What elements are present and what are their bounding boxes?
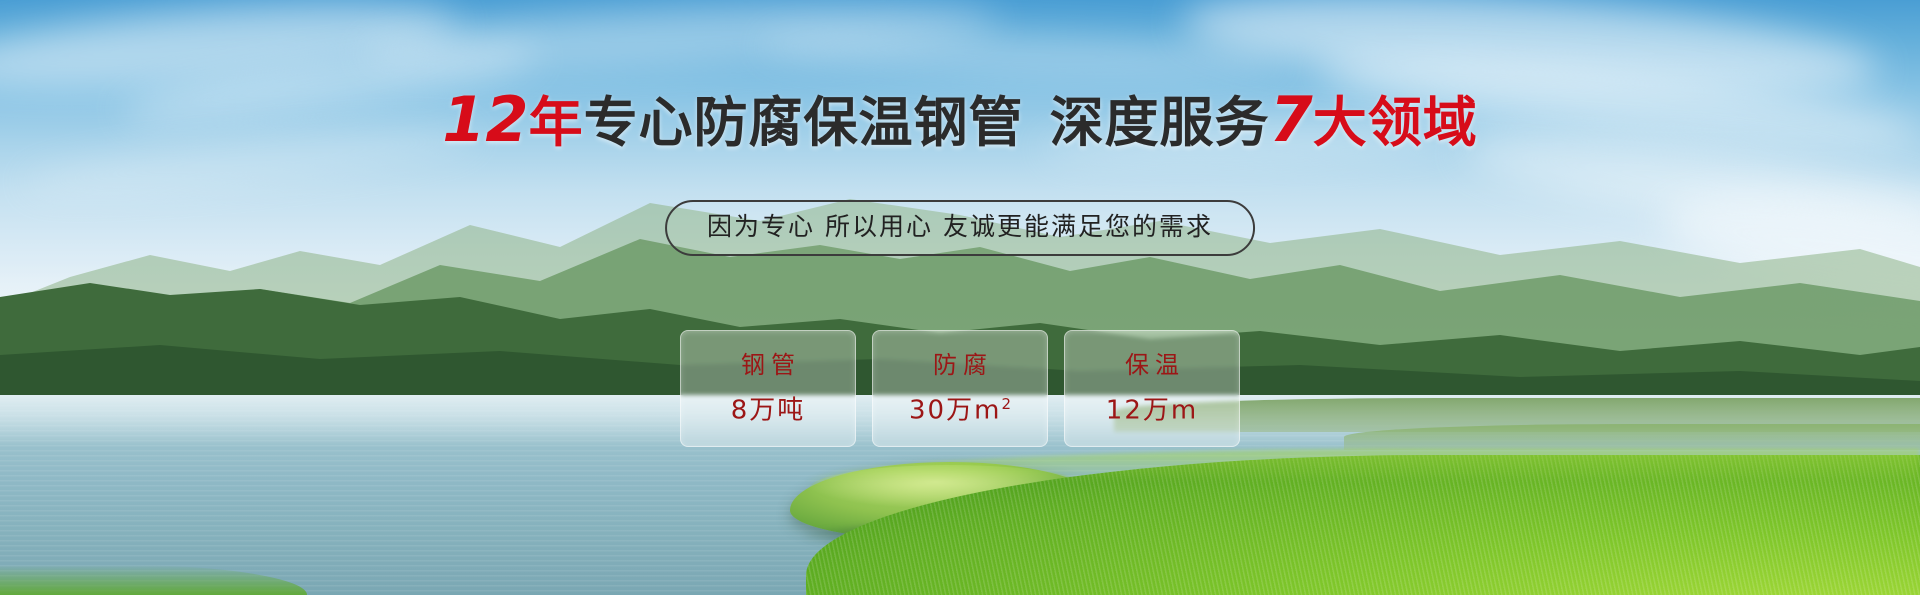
stat-value: 12万m	[1106, 390, 1198, 425]
banner-headline: 12年专心防腐保温钢管深度服务7大领域	[0, 88, 1920, 155]
subtitle-pill: 因为专心 所以用心 友诚更能满足您的需求	[665, 200, 1255, 256]
stat-label: 防腐	[927, 352, 993, 378]
headline-service-text: 深度服务	[1050, 91, 1270, 154]
stat-value-text: 30万m	[909, 396, 1001, 426]
headline-fields-number: 7	[1270, 83, 1313, 156]
stat-card-steel-pipe[interactable]: 钢管 8万吨	[680, 330, 856, 447]
stat-value: 30万m2	[909, 390, 1011, 425]
stat-label: 保温	[1119, 352, 1185, 378]
headline-years-unit: 年	[529, 91, 584, 154]
stat-card-anticorrosion[interactable]: 防腐 30万m2	[872, 330, 1048, 447]
stat-value-text: 12万m	[1106, 396, 1198, 426]
headline-years-number: 12	[442, 83, 528, 156]
promo-banner: 12年专心防腐保温钢管深度服务7大领域 因为专心 所以用心 友诚更能满足您的需求…	[0, 0, 1920, 595]
banner-content: 12年专心防腐保温钢管深度服务7大领域 因为专心 所以用心 友诚更能满足您的需求…	[0, 0, 1920, 595]
headline-main-text: 专心防腐保温钢管	[584, 91, 1024, 154]
headline-fields-unit: 大领域	[1313, 91, 1478, 154]
stats-row: 钢管 8万吨 防腐 30万m2 保温 12万m	[680, 330, 1240, 447]
stat-value: 8万吨	[731, 390, 806, 425]
stat-card-insulation[interactable]: 保温 12万m	[1064, 330, 1240, 447]
subtitle-text: 因为专心 所以用心 友诚更能满足您的需求	[707, 212, 1213, 241]
stat-label: 钢管	[735, 352, 801, 378]
stat-value-text: 8万吨	[731, 396, 806, 426]
stat-value-sup: 2	[1001, 395, 1011, 413]
